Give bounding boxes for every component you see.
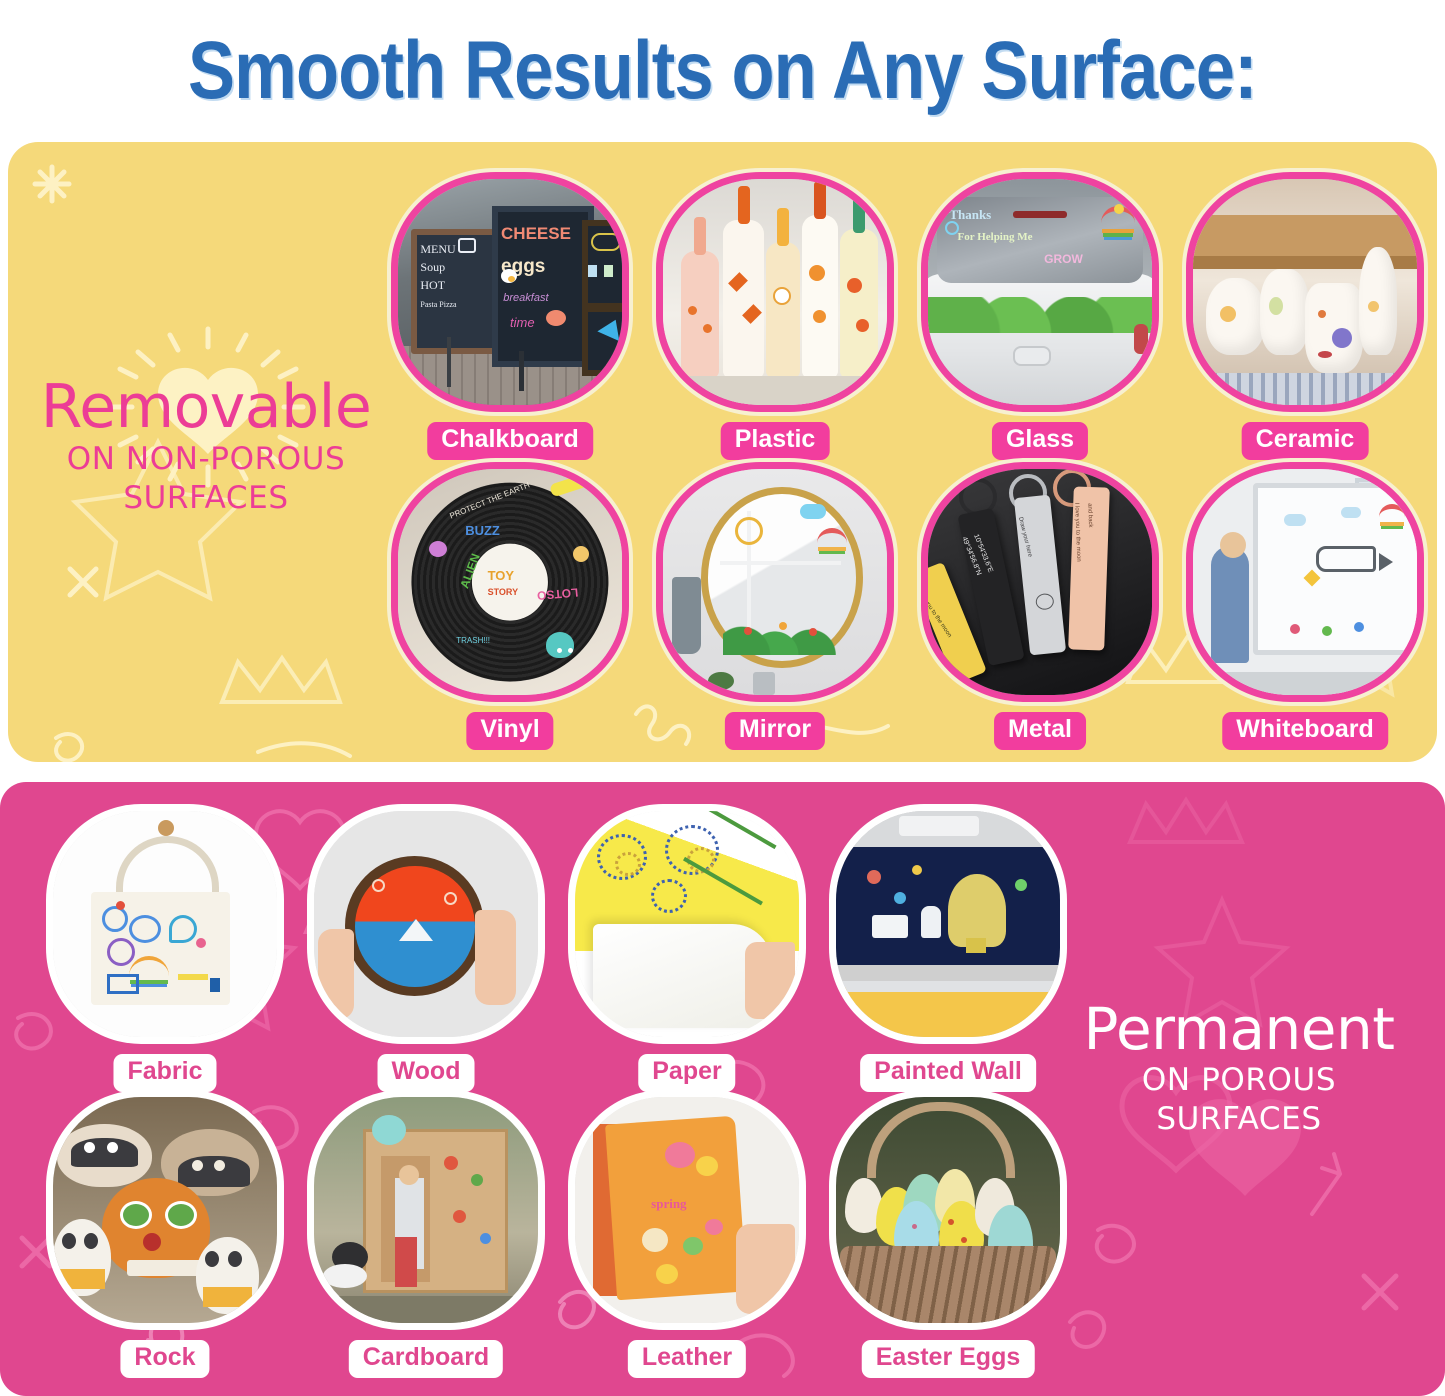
- surface-card-mirror[interactable]: Mirror: [656, 462, 894, 752]
- surface-card-easter-eggs[interactable]: Easter Eggs: [829, 1090, 1067, 1380]
- label-easter-eggs: Easter Eggs: [862, 1340, 1035, 1378]
- label-glass: Glass: [992, 422, 1088, 460]
- surface-card-whiteboard[interactable]: Whiteboard: [1186, 462, 1424, 752]
- label-wood: Wood: [378, 1054, 475, 1092]
- thumbnail-wood[interactable]: [307, 804, 545, 1044]
- thumbnail-chalkboard[interactable]: MENUSoupHOTPasta Pizza CHEESE eggs break…: [391, 172, 629, 412]
- permanent-subheading-line1: ON POROUS: [1040, 1063, 1438, 1098]
- label-metal: Metal: [994, 712, 1086, 750]
- page-title: Smooth Results on Any Surface:: [188, 30, 1257, 112]
- label-whiteboard: Whiteboard: [1222, 712, 1388, 750]
- permanent-subheading-line2: SURFACES: [1040, 1102, 1438, 1137]
- removable-subheading-line1: ON NON-POROUS: [20, 442, 392, 477]
- thumbnail-metal[interactable]: I love you to the moon 49°34'56.8"N 10°5…: [921, 462, 1159, 702]
- thumbnail-leather[interactable]: spring: [568, 1090, 806, 1330]
- surface-card-painted-wall[interactable]: Painted Wall: [829, 804, 1067, 1094]
- thumbnail-mirror[interactable]: [656, 462, 894, 702]
- thumbnail-easter-eggs[interactable]: [829, 1090, 1067, 1330]
- thumbnail-paper[interactable]: [568, 804, 806, 1044]
- removable-heading-group: Removable ON NON-POROUS SURFACES: [20, 377, 392, 516]
- surface-card-glass[interactable]: Thanks For Helping Me GROW Glass: [921, 172, 1159, 462]
- permanent-heading-group: Permanent ON POROUS SURFACES: [1040, 1000, 1438, 1137]
- surface-card-paper[interactable]: Paper: [568, 804, 806, 1094]
- surface-card-rock[interactable]: Rock: [46, 1090, 284, 1380]
- removable-heading: Removable: [20, 377, 392, 438]
- label-fabric: Fabric: [113, 1054, 216, 1092]
- permanent-section-panel: Permanent ON POROUS SURFACES: [0, 782, 1445, 1396]
- surface-card-metal[interactable]: I love you to the moon 49°34'56.8"N 10°5…: [921, 462, 1159, 752]
- label-mirror: Mirror: [725, 712, 825, 750]
- label-rock: Rock: [120, 1340, 209, 1378]
- surface-card-leather[interactable]: spring Leather: [568, 1090, 806, 1380]
- permanent-heading: Permanent: [1040, 1000, 1438, 1059]
- thumbnail-plastic[interactable]: [656, 172, 894, 412]
- label-painted-wall: Painted Wall: [860, 1054, 1036, 1092]
- thumbnail-ceramic[interactable]: [1186, 172, 1424, 412]
- label-cardboard: Cardboard: [349, 1340, 503, 1378]
- removable-subheading-line2: SURFACES: [20, 481, 392, 516]
- thumbnail-cardboard[interactable]: [307, 1090, 545, 1330]
- label-vinyl: Vinyl: [466, 712, 553, 750]
- surface-card-vinyl[interactable]: TOY STORY BUZZ ALIEN LOTSO PROTECT THE E…: [391, 462, 629, 752]
- surface-card-fabric[interactable]: Fabric: [46, 804, 284, 1094]
- thumbnail-rock[interactable]: [46, 1090, 284, 1330]
- label-paper: Paper: [638, 1054, 735, 1092]
- surface-card-plastic[interactable]: Plastic: [656, 172, 894, 462]
- header-banner: Smooth Results on Any Surface:: [0, 0, 1445, 142]
- label-ceramic: Ceramic: [1242, 422, 1369, 460]
- thumbnail-painted-wall[interactable]: [829, 804, 1067, 1044]
- surface-card-chalkboard[interactable]: MENUSoupHOTPasta Pizza CHEESE eggs break…: [391, 172, 629, 462]
- removable-section-panel: Removable ON NON-POROUS SURFACES MENUSou…: [8, 142, 1437, 762]
- label-plastic: Plastic: [721, 422, 830, 460]
- label-chalkboard: Chalkboard: [427, 422, 593, 460]
- surface-card-ceramic[interactable]: Ceramic: [1186, 172, 1424, 462]
- thumbnail-fabric[interactable]: [46, 804, 284, 1044]
- surface-card-wood[interactable]: Wood: [307, 804, 545, 1094]
- label-leather: Leather: [628, 1340, 746, 1378]
- thumbnail-whiteboard[interactable]: [1186, 462, 1424, 702]
- surface-card-cardboard[interactable]: Cardboard: [307, 1090, 545, 1380]
- thumbnail-vinyl[interactable]: TOY STORY BUZZ ALIEN LOTSO PROTECT THE E…: [391, 462, 629, 702]
- thumbnail-glass[interactable]: Thanks For Helping Me GROW: [921, 172, 1159, 412]
